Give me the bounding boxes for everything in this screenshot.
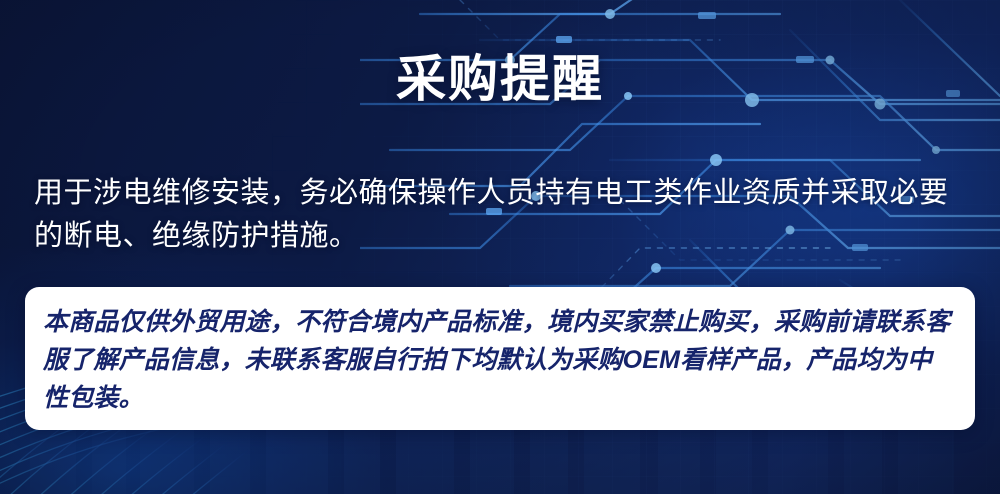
trade-notice-text: 本商品仅供外贸用途，不符合境内产品标准，境内买家禁止购买，采购前请联系客服了解产… [43,303,955,417]
page-title: 采购提醒 [0,48,1000,110]
safety-notice-text: 用于涉电维修安装，务必确保操作人员持有电工类作业资质并采取必要的断电、绝缘防护措… [34,172,966,258]
purchase-reminder-banner: 采购提醒 用于涉电维修安装，务必确保操作人员持有电工类作业资质并采取必要的断电、… [0,0,1000,494]
trade-notice-box: 本商品仅供外贸用途，不符合境内产品标准，境内买家禁止购买，采购前请联系客服了解产… [25,287,975,430]
banner-content: 采购提醒 用于涉电维修安装，务必确保操作人员持有电工类作业资质并采取必要的断电、… [0,0,1000,494]
